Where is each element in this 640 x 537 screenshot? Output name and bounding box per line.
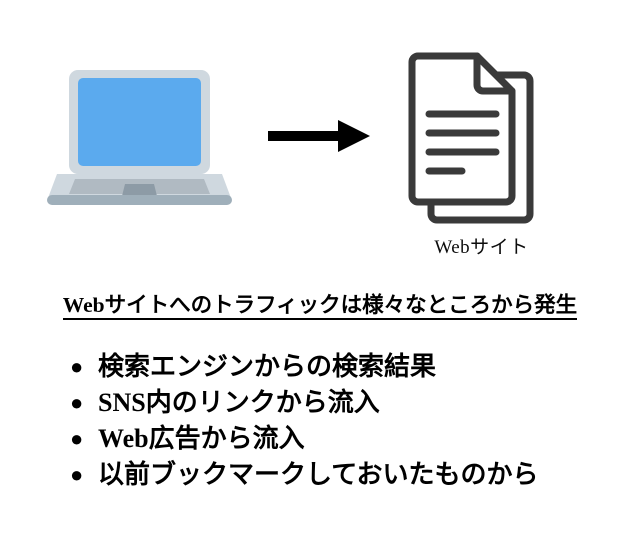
bullet-icon: ● xyxy=(70,385,98,421)
right-arrow-icon xyxy=(266,113,376,163)
bullet-icon: ● xyxy=(70,421,98,457)
bullet-icon: ● xyxy=(70,457,98,493)
list-item: ● 以前ブックマークしておいたものから xyxy=(70,457,630,493)
website-label: Webサイト xyxy=(404,232,559,259)
list-item: ● Web広告から流入 xyxy=(70,421,630,457)
page-heading-text: Webサイトへのトラフィックは様々なところから発生 xyxy=(63,293,577,320)
laptop-icon xyxy=(47,58,232,208)
traffic-sources-list: ● 検索エンジンからの検索結果 ● SNS内のリンクから流入 ● Web広告から… xyxy=(70,349,630,493)
list-item-label: 検索エンジンからの検索結果 xyxy=(98,349,630,385)
bullet-icon: ● xyxy=(70,349,98,385)
list-item: ● SNS内のリンクから流入 xyxy=(70,385,630,421)
list-item-label: SNS内のリンクから流入 xyxy=(98,385,630,421)
diagram-row: Webサイト xyxy=(0,0,640,275)
list-item-label: Web広告から流入 xyxy=(98,421,630,457)
list-item: ● 検索エンジンからの検索結果 xyxy=(70,349,630,385)
list-item-label: 以前ブックマークしておいたものから xyxy=(98,457,630,493)
document-pages-icon xyxy=(404,48,559,228)
page-heading: Webサイトへのトラフィックは様々なところから発生 xyxy=(0,288,640,319)
